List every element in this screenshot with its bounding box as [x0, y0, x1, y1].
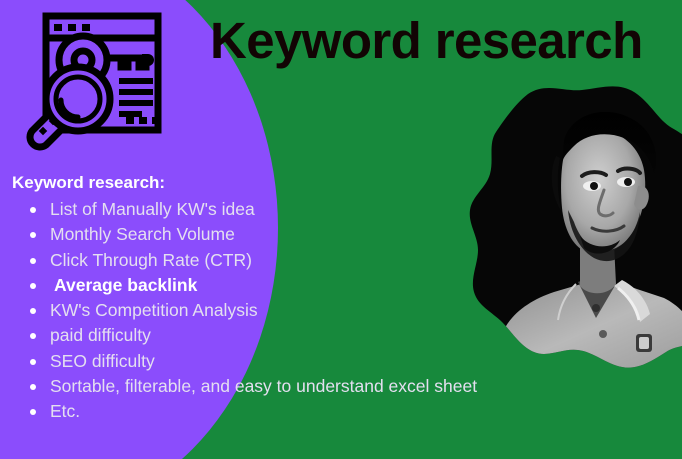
- list-item-label: Sortable, filterable, and easy to unders…: [50, 376, 477, 396]
- list-item: Click Through Rate (CTR): [12, 248, 672, 273]
- list-item-label: Monthly Search Volume: [50, 224, 235, 244]
- list-heading: Keyword research:: [12, 172, 672, 195]
- list-item-emphasized: Average backlink: [12, 273, 672, 298]
- browser-bottom-dots: [126, 117, 160, 124]
- list-item: SEO difficulty: [12, 349, 672, 374]
- bullet-dot-icon: [30, 308, 36, 314]
- bullet-dot-icon: [30, 359, 36, 365]
- bullet-dot-icon: [30, 384, 36, 390]
- keyword-research-icon: [16, 10, 168, 160]
- list-item: KW's Competition Analysis: [12, 298, 672, 323]
- bullet-dot-icon: [30, 409, 36, 415]
- text-lines: [119, 78, 153, 117]
- list-item: Sortable, filterable, and easy to unders…: [12, 374, 672, 399]
- list-item-label: Average backlink: [54, 275, 197, 295]
- list-item-label: Etc.: [50, 401, 80, 421]
- list-item: List of Manually KW's idea: [12, 197, 672, 222]
- bullet-dot-icon: [30, 232, 36, 238]
- keyword-research-list: Keyword research: List of Manually KW's …: [12, 172, 672, 425]
- page-title: Keyword research: [210, 12, 643, 71]
- list-item-label: Click Through Rate (CTR): [50, 250, 252, 270]
- browser-dots: [54, 24, 90, 31]
- bullet-dot-icon: [30, 258, 36, 264]
- list-item-label: SEO difficulty: [50, 351, 155, 371]
- list-item: paid difficulty: [12, 323, 672, 348]
- bullet-list: List of Manually KW's idea Monthly Searc…: [12, 197, 672, 425]
- list-item-label: List of Manually KW's idea: [50, 199, 255, 219]
- magnifier-shape: [30, 67, 110, 147]
- list-item-label: paid difficulty: [50, 325, 151, 345]
- bullet-dot-icon: [30, 333, 36, 339]
- slide-canvas: Keyword research: [0, 0, 682, 459]
- list-item-label: KW's Competition Analysis: [50, 300, 258, 320]
- bullet-dot-icon: [30, 283, 36, 289]
- list-item: Etc.: [12, 399, 672, 424]
- list-item: Monthly Search Volume: [12, 222, 672, 247]
- bullet-dot-icon: [30, 207, 36, 213]
